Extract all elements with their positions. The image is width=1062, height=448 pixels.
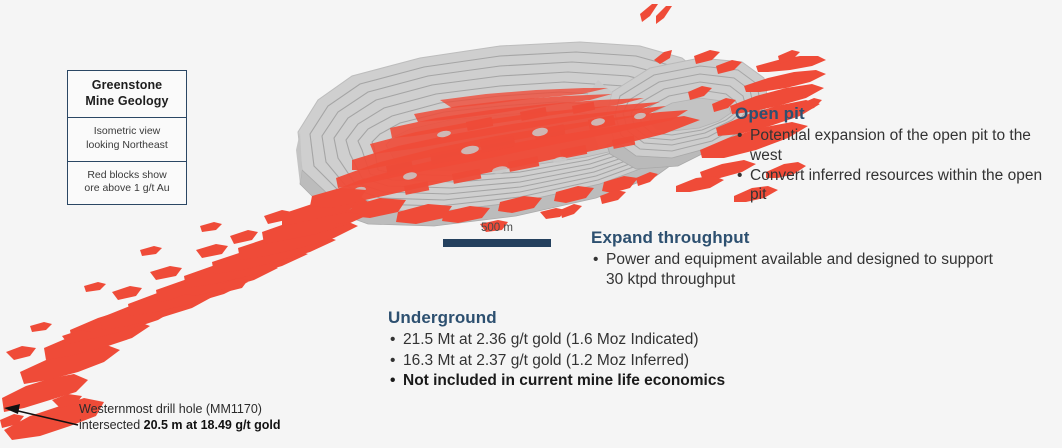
scale-bar-rule: [443, 239, 551, 247]
drill-hole-intercept: 20.5 m at 18.49 g/t gold: [144, 418, 281, 432]
figure-canvas: Greenstone Mine Geology Isometric view l…: [0, 0, 1062, 448]
callout-expand-throughput-heading: Expand throughput: [591, 228, 1011, 248]
list-item-text: Not included in current mine life econom…: [403, 372, 725, 389]
drill-hole-annotation: Westernmost drill hole (MM1170) intersec…: [79, 401, 329, 434]
list-item-text: Convert inferred resources within the op…: [750, 167, 1042, 203]
list-item-text: Power and equipment available and design…: [606, 251, 993, 287]
drill-hole-line2: intersected 20.5 m at 18.49 g/t gold: [79, 417, 329, 433]
legend-view-line2: looking Northeast: [76, 139, 178, 153]
callout-expand-throughput-list: • Power and equipment available and desi…: [591, 250, 1011, 288]
list-item: • Potential expansion of the open pit to…: [735, 126, 1055, 164]
scale-bar: 500 m: [443, 222, 551, 247]
bullet-glyph: •: [737, 126, 742, 145]
legend-title-line2: Mine Geology: [76, 94, 178, 110]
list-item: • Not included in current mine life econ…: [388, 371, 848, 390]
list-item: • 21.5 Mt at 2.36 g/t gold (1.6 Moz Indi…: [388, 330, 848, 349]
legend-key-line2: ore above 1 g/t Au: [76, 182, 178, 196]
list-item: • Convert inferred resources within the …: [735, 166, 1055, 204]
list-item-text: Potential expansion of the open pit to t…: [750, 127, 1031, 163]
legend-title-line1: Greenstone: [76, 78, 178, 94]
legend-view-line1: Isometric view: [76, 125, 178, 139]
callout-open-pit: Open pit • Potential expansion of the op…: [735, 104, 1055, 205]
bullet-glyph: •: [390, 351, 395, 370]
scale-bar-label: 500 m: [443, 222, 551, 235]
bullet-glyph: •: [390, 330, 395, 349]
bullet-glyph: •: [737, 166, 742, 185]
bullet-glyph: •: [390, 371, 395, 390]
callout-underground-heading: Underground: [388, 308, 848, 328]
legend-key-line1: Red blocks show: [76, 169, 178, 183]
drill-hole-line1: Westernmost drill hole (MM1170): [79, 401, 329, 417]
legend-title-section: Greenstone Mine Geology: [68, 71, 186, 117]
list-item: • 16.3 Mt at 2.37 g/t gold (1.2 Moz Infe…: [388, 351, 848, 370]
list-item: • Power and equipment available and desi…: [591, 250, 1011, 288]
legend-box: Greenstone Mine Geology Isometric view l…: [67, 70, 187, 205]
callout-underground-list: • 21.5 Mt at 2.36 g/t gold (1.6 Moz Indi…: [388, 330, 848, 390]
bullet-glyph: •: [593, 250, 598, 269]
callout-open-pit-list: • Potential expansion of the open pit to…: [735, 126, 1055, 204]
legend-view-section: Isometric view looking Northeast: [68, 117, 186, 160]
list-item-text: 16.3 Mt at 2.37 g/t gold (1.2 Moz Inferr…: [403, 352, 689, 369]
drill-hole-line2-prefix: intersected: [79, 418, 144, 432]
list-item-text: 21.5 Mt at 2.36 g/t gold (1.6 Moz Indica…: [403, 331, 699, 348]
callout-underground: Underground • 21.5 Mt at 2.36 g/t gold (…: [388, 308, 848, 391]
callout-open-pit-heading: Open pit: [735, 104, 1055, 124]
legend-key-section: Red blocks show ore above 1 g/t Au: [68, 161, 186, 204]
callout-expand-throughput: Expand throughput • Power and equipment …: [591, 228, 1011, 290]
